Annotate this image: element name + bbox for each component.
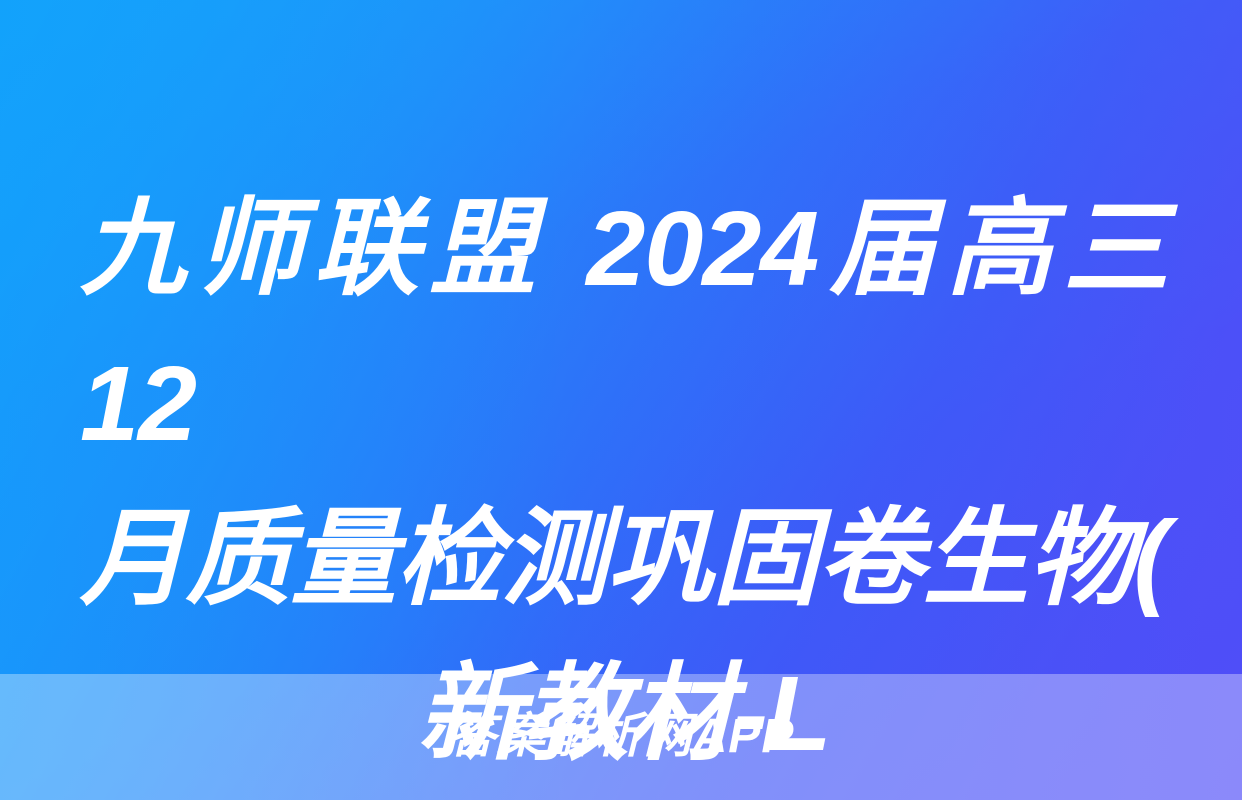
footer-watermark-band: 答案解析网APP xyxy=(0,674,1242,800)
watermark-label: 答案解析网APP xyxy=(448,713,795,761)
cover-title-line-2: 月质量检测巩固卷生物( xyxy=(80,482,1168,637)
cover-title-line-1: 九师联盟 2024届高三12 xyxy=(80,172,1168,482)
exam-paper-cover: 九师联盟 2024届高三12 月质量检测巩固卷生物( 新教材-L 答案解析网AP… xyxy=(0,0,1242,800)
